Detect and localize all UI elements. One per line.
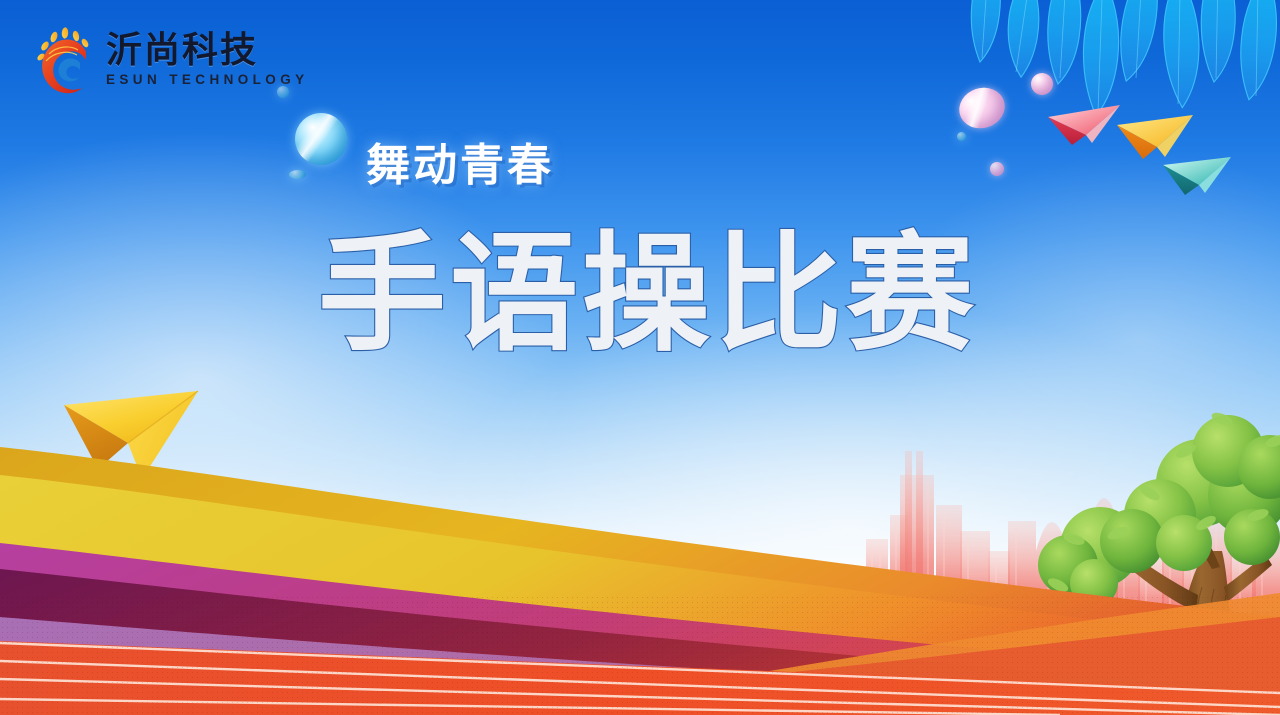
poster-canvas: 沂尚科技 ESUN TECHNOLOGY 舞动青春 手语操比赛 [0,0,1280,715]
poster-title-text: 手语操比赛 [318,220,978,369]
bubble-cyan-mini-icon [277,86,289,98]
bubble-pink-mini-icon [990,162,1004,176]
bubble-cyan-large-icon [295,113,347,165]
bubble-pink-small-icon [1031,73,1053,95]
swirl-sun-logo-icon [24,24,104,104]
poster-title: 手语操比赛 [318,218,998,368]
bubble-cyan-tiny-icon [289,170,306,179]
paper-plane-teal-icon [1161,155,1233,203]
bubble-cyan-dot-icon [957,132,966,141]
poster-subtitle: 舞动青春 [366,129,554,193]
brand-name-en: ESUN TECHNOLOGY [106,71,309,89]
brand-name-cn: 沂尚科技 [106,30,309,70]
landscape-artwork [0,355,1280,715]
brand-wordmark: 沂尚科技 ESUN TECHNOLOGY [106,30,309,89]
paper-plane-pink-icon [1046,103,1122,153]
